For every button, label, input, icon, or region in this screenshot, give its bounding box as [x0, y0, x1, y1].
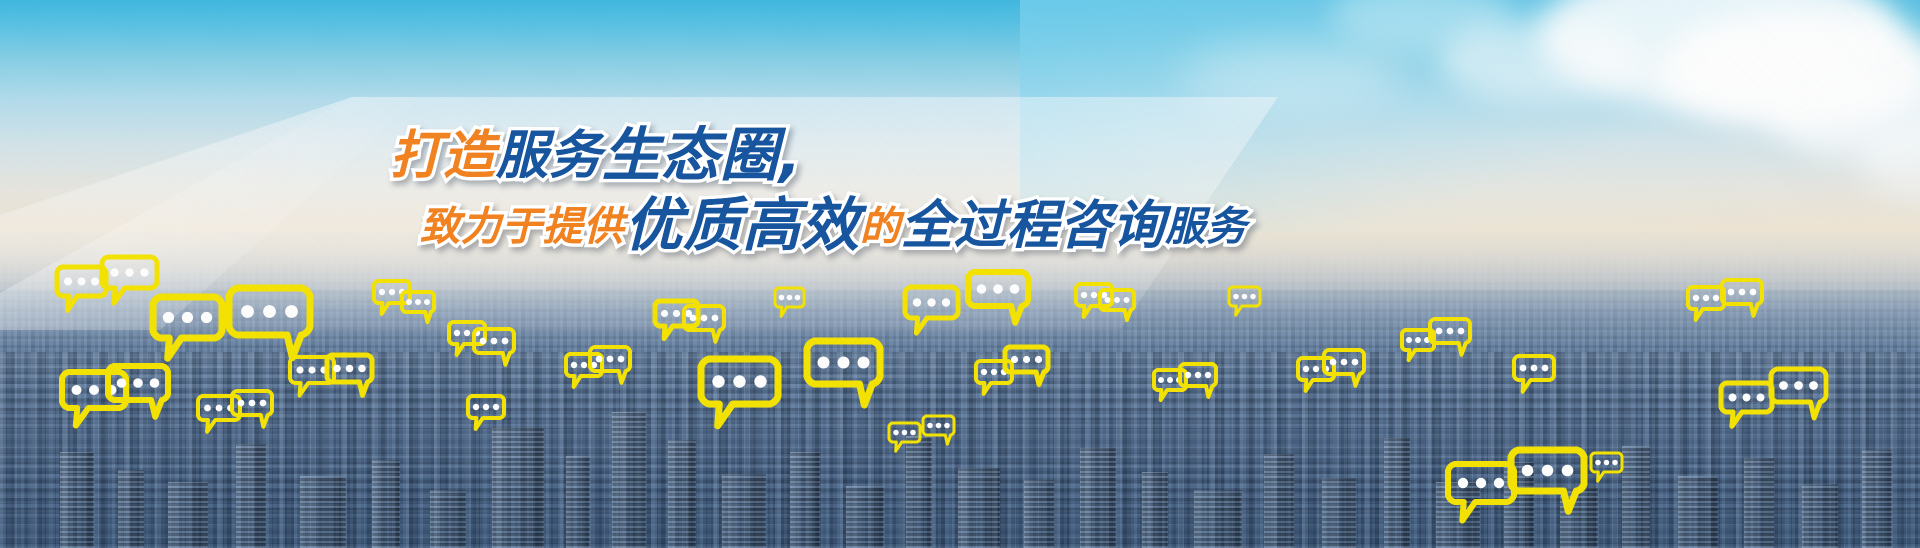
cloud-icon: [1180, 40, 1400, 110]
cityscape-photo: [0, 232, 1920, 548]
hero-banner: 打造服务生态圈, 打造服务生态圈, 致力于提供优质高效的全过程咨询服务 致力于提…: [0, 0, 1920, 548]
city-blue-tint: [0, 232, 1920, 548]
